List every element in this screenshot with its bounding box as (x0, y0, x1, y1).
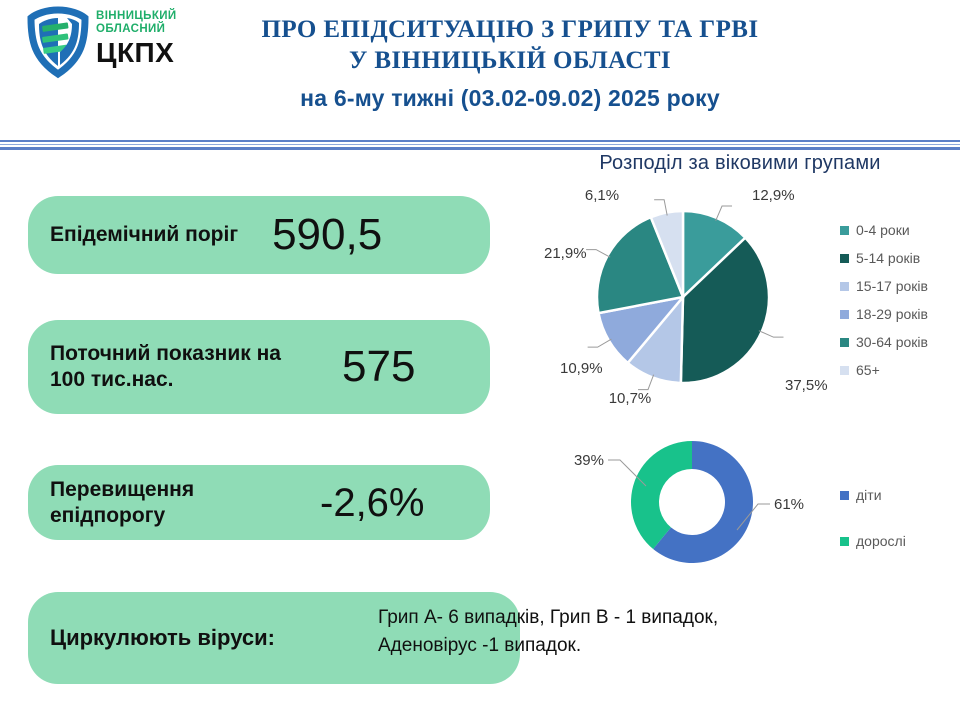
legend-item-label: 65+ (856, 362, 880, 378)
legend-item-label: дорослі (856, 533, 906, 549)
donut-segment-label: 39% (574, 452, 604, 469)
donut-segment-label: 61% (774, 496, 804, 513)
legend-swatch-icon (840, 226, 849, 235)
page-header: ВІННИЦЬКИЙ ОБЛАСНИЙ ЦКПХ ПРО ЕПІДСИТУАЦІ… (0, 0, 960, 145)
legend-item[interactable]: 5-14 років (840, 244, 960, 272)
donut-chart-children-adults: 61%39% (560, 432, 830, 577)
legend-item[interactable]: діти (840, 472, 960, 518)
legend-item[interactable]: 18-29 років (840, 300, 960, 328)
pie-slice-label: 37,5% (785, 377, 828, 394)
card-epidemic-threshold: Епідемічний поріг 590,5 (28, 196, 490, 274)
pie-slice-label: 12,9% (752, 187, 795, 204)
page-title: ПРО ЕПІДСИТУАЦІЮ З ГРИПУ ТА ГРВІ У ВІННИ… (190, 14, 830, 113)
legend-item-label: 30-64 років (856, 334, 928, 350)
legend-swatch-icon (840, 254, 849, 263)
pie-slice-label: 6,1% (585, 187, 619, 204)
card-excess-value: -2,6% (320, 480, 425, 526)
legend-swatch-icon (840, 338, 849, 347)
pie-chart-legend: 0-4 роки5-14 років15-17 років18-29 років… (840, 216, 960, 384)
legend-item[interactable]: 0-4 роки (840, 216, 960, 244)
legend-item-label: 0-4 роки (856, 222, 910, 238)
card-current-label: Поточний показник на 100 тис.нас. (50, 341, 320, 393)
legend-swatch-icon (840, 310, 849, 319)
card-excess-label: Перевищення епідпорогу (50, 477, 290, 529)
donut-chart-legend: дітидорослі (840, 472, 960, 564)
legend-item-label: діти (856, 487, 882, 503)
legend-swatch-icon (840, 282, 849, 291)
legend-swatch-icon (840, 491, 849, 500)
card-threshold-label: Епідемічний поріг (50, 222, 238, 248)
legend-item-label: 15-17 років (856, 278, 928, 294)
legend-item[interactable]: 30-64 років (840, 328, 960, 356)
legend-item[interactable]: 15-17 років (840, 272, 960, 300)
legend-swatch-icon (840, 537, 849, 546)
card-viruses-label: Циркулюють віруси: (50, 625, 275, 651)
card-threshold-value: 590,5 (272, 212, 382, 258)
shield-icon (22, 6, 94, 78)
legend-item[interactable]: дорослі (840, 518, 960, 564)
header-divider (0, 140, 960, 150)
legend-item-label: 5-14 років (856, 250, 920, 266)
pie-slice-label: 10,7% (609, 390, 652, 407)
divider-rule-top (0, 140, 960, 142)
legend-swatch-icon (840, 366, 849, 375)
card-viruses-text: Грип А- 6 випадків, Грип В - 1 випадок, … (378, 604, 798, 660)
donut-segment (631, 441, 692, 549)
pie-slice-label: 21,9% (544, 245, 587, 262)
title-line-3: на 6-му тижні (03.02-09.02) 2025 року (190, 83, 830, 113)
pie-chart-age-groups: 12,9%37,5%10,7%10,9%21,9%6,1% (540, 178, 830, 408)
card-threshold-excess: Перевищення епідпорогу -2,6% (28, 465, 490, 540)
divider-rule-bottom (0, 147, 960, 150)
card-current-value: 575 (342, 344, 415, 390)
legend-item[interactable]: 65+ (840, 356, 960, 384)
legend-item-label: 18-29 років (856, 306, 928, 322)
divider-rule-middle (0, 144, 960, 145)
organization-logo: ВІННИЦЬКИЙ ОБЛАСНИЙ ЦКПХ (22, 6, 212, 78)
title-line-2: У ВІННИЦЬКІЙ ОБЛАСТІ (190, 45, 830, 76)
pie-slice-label: 10,9% (560, 360, 603, 377)
card-current-rate: Поточний показник на 100 тис.нас. 575 (28, 320, 490, 414)
pie-chart-title: Розподіл за віковими групами (520, 152, 960, 175)
title-line-1: ПРО ЕПІДСИТУАЦІЮ З ГРИПУ ТА ГРВІ (190, 14, 830, 45)
infographic-page: ВІННИЦЬКИЙ ОБЛАСНИЙ ЦКПХ ПРО ЕПІДСИТУАЦІ… (0, 0, 960, 720)
